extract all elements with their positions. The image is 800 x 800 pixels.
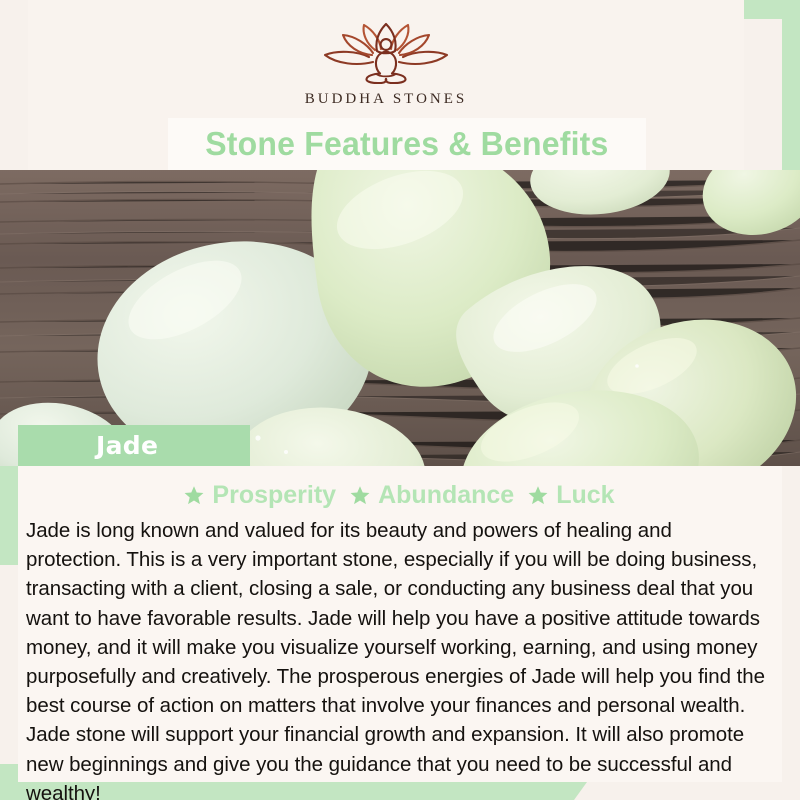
stone-photo <box>0 170 800 466</box>
benefit-label: Luck <box>556 481 614 510</box>
benefits-row: Prosperity Abundance Luck <box>22 478 776 512</box>
page-title: Stone Features & Benefits <box>205 125 608 163</box>
content-panel: Prosperity Abundance Luck Jade is long k… <box>18 466 782 782</box>
brand-name: BUDDHA STONES <box>305 91 468 108</box>
benefit-item: Luck <box>527 481 614 510</box>
star-icon <box>527 485 549 506</box>
stone-photo-illustration <box>0 170 800 466</box>
benefit-label: Abundance <box>378 481 514 510</box>
benefit-item: Abundance <box>349 481 514 510</box>
benefit-item: Prosperity <box>183 481 336 510</box>
lotus-meditation-logo-icon <box>311 22 461 84</box>
poster-root: BUDDHA STONES Stone Features & Benefits <box>0 0 800 800</box>
decoration-right-bar <box>782 0 800 183</box>
benefit-label: Prosperity <box>212 481 336 510</box>
stone-name-label: Jade <box>96 431 158 460</box>
star-icon <box>349 485 371 506</box>
stone-name-banner: Jade <box>18 425 250 466</box>
star-icon <box>183 485 205 506</box>
title-banner: Stone Features & Benefits <box>168 118 646 170</box>
stone-description: Jade is long known and valued for its be… <box>26 516 772 800</box>
